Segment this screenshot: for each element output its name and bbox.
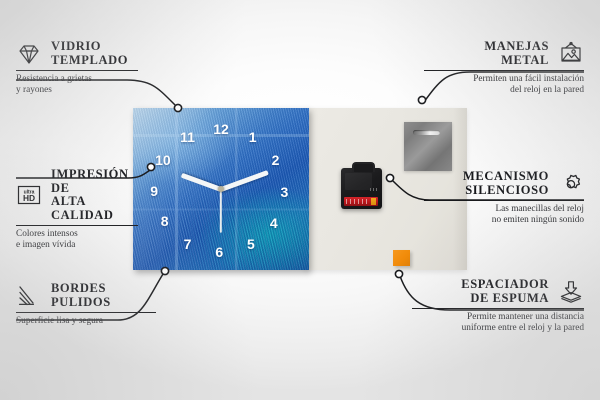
callout-bordes-pulidos[interactable]: BORDES PULIDOS Superficie lisa y segura [16,282,156,327]
mechanism-panel [345,173,372,190]
callout-description: Permiten una fácil instalación del reloj… [424,71,584,97]
clock-numeral-1: 1 [249,130,257,144]
foam-spacer [393,250,410,266]
clock-hour-hand [181,172,222,191]
clock-mechanism [341,168,382,209]
callout-title: MECANISMO SILENCIOSO [424,170,549,197]
callout-description: Resistencia a grietas y rayones [16,71,138,97]
callout-description: Las manecillas del reloj no emiten ningú… [424,201,584,227]
diamond-icon [16,41,42,67]
clock-numeral-8: 8 [161,214,169,228]
callout-vidrio-templado[interactable]: VIDRIO TEMPLADO Resistencia a grietas y … [16,40,138,97]
clock-center-cap [218,186,224,192]
hanger-slot [413,130,440,135]
callout-espaciador-espuma[interactable]: ESPACIADOR DE ESPUMA Permite mantener un… [412,278,584,335]
mechanism-hook [352,162,375,172]
clock-numeral-11: 11 [180,130,195,144]
callout-description: Permite mantener una distancia uniforme … [412,309,584,335]
clock-numeral-2: 2 [272,153,280,167]
clock-minute-hand [220,170,269,192]
foam-spacer-icon [558,279,584,305]
metal-hanger-plate [404,122,452,171]
callout-manejas-metal[interactable]: MANEJAS METAL Permiten una fácil instala… [424,40,584,97]
product-photo: 12 1 2 3 4 5 6 7 8 9 10 11 [133,108,467,270]
clock-numeral-4: 4 [270,216,278,230]
mechanism-vents [370,188,379,191]
battery-label [346,199,370,204]
connector-dot-espaciador [395,270,402,277]
picture-frame-icon [558,41,584,67]
gear-icon [558,171,584,197]
callout-title: ESPACIADOR DE ESPUMA [412,278,549,305]
infographic-canvas: 12 1 2 3 4 5 6 7 8 9 10 11 [0,0,600,400]
callout-title: VIDRIO TEMPLADO [51,40,128,67]
callout-description: Superficie lisa y segura [16,313,156,327]
clock-second-hand [220,189,222,233]
polished-edges-icon [16,283,42,309]
svg-text:HD: HD [23,193,35,203]
clock-numeral-5: 5 [247,237,255,251]
clock-numeral-10: 10 [155,153,171,167]
callout-mecanismo-silencioso[interactable]: MECANISMO SILENCIOSO Las manecillas del … [424,170,584,227]
clock-numeral-9: 9 [150,184,158,198]
callout-title: BORDES PULIDOS [51,282,111,309]
ultra-hd-icon: ultra HD [16,182,42,208]
clock-numeral-12: 12 [213,122,229,136]
connector-dot-manejas [418,96,425,103]
clock-numeral-3: 3 [280,185,288,199]
callout-impresion-alta-calidad[interactable]: ultra HD IMPRESIÓN DE ALTA CALIDAD Color… [16,168,138,252]
clock-numeral-7: 7 [184,237,192,251]
clock-numeral-6: 6 [215,245,223,259]
callout-description: Colores intensos e imagen vívida [16,226,138,252]
callout-title: MANEJAS METAL [424,40,549,67]
battery [344,197,378,206]
wall-clock-face: 12 1 2 3 4 5 6 7 8 9 10 11 [133,108,309,270]
callout-title: IMPRESIÓN DE ALTA CALIDAD [51,168,138,222]
